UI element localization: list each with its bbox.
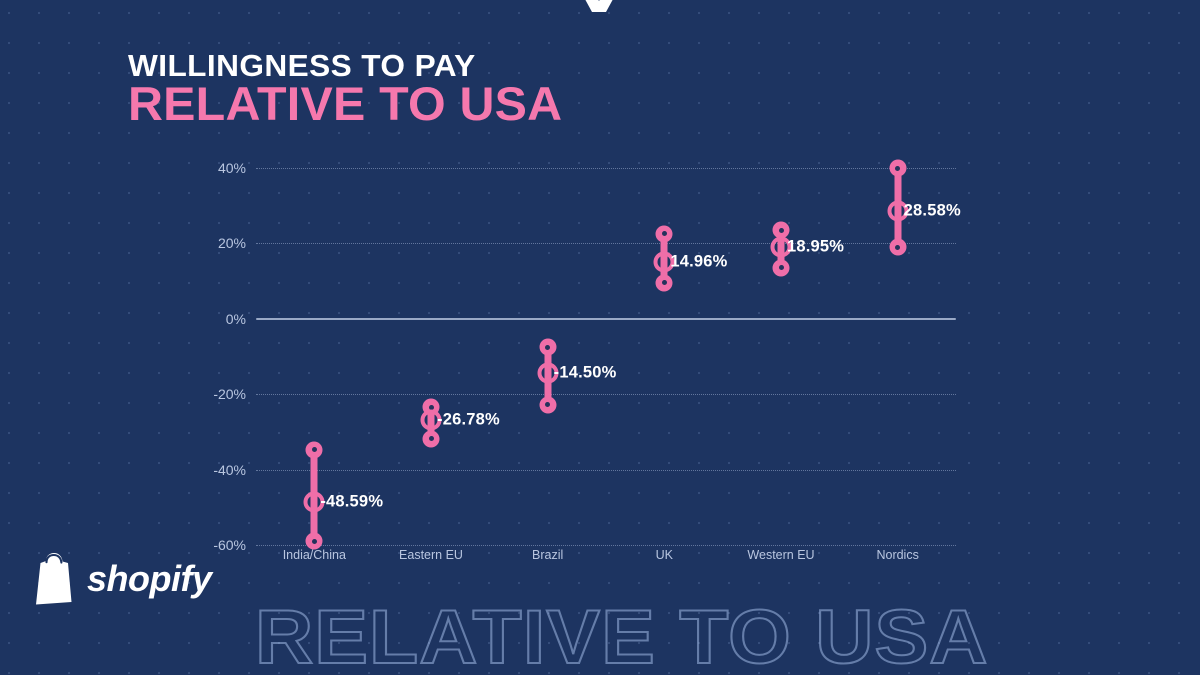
range-marker[interactable]: -48.59% bbox=[302, 0, 326, 675]
shopify-logo: shopify bbox=[30, 552, 212, 606]
zero-line bbox=[256, 318, 956, 320]
data-value-label: 18.95% bbox=[787, 238, 844, 257]
range-high-dot bbox=[656, 225, 673, 242]
y-axis-tick-label: -20% bbox=[190, 386, 246, 402]
x-axis-tick-label: India/China bbox=[283, 548, 346, 562]
data-value-label: 14.96% bbox=[670, 253, 727, 272]
range-marker[interactable]: -14.50% bbox=[536, 0, 560, 675]
range-low-dot bbox=[656, 274, 673, 291]
y-axis-tick-label: 40% bbox=[190, 160, 246, 176]
range-high-dot bbox=[889, 160, 906, 177]
range-marker[interactable]: 14.96% bbox=[652, 0, 676, 675]
y-axis-tick-label: -60% bbox=[190, 537, 246, 553]
y-axis-tick-label: 0% bbox=[190, 311, 246, 327]
y-axis-tick-label: 20% bbox=[190, 235, 246, 251]
x-axis-tick-label: Eastern EU bbox=[399, 548, 463, 562]
range-low-dot bbox=[539, 396, 556, 413]
data-value-label: 28.58% bbox=[904, 202, 961, 221]
range-marker[interactable]: -26.78% bbox=[419, 0, 443, 675]
gridline bbox=[256, 243, 956, 244]
data-value-label: -14.50% bbox=[554, 364, 617, 383]
data-value-label: -26.78% bbox=[437, 410, 500, 429]
y-axis-tick-label: -40% bbox=[190, 462, 246, 478]
x-axis-tick-label: Western EU bbox=[747, 548, 814, 562]
gridline bbox=[256, 394, 956, 395]
gridline bbox=[256, 470, 956, 471]
range-high-dot bbox=[306, 441, 323, 458]
range-low-dot bbox=[773, 259, 790, 276]
range-high-dot bbox=[539, 339, 556, 356]
range-marker[interactable]: 18.95% bbox=[769, 0, 793, 675]
x-axis-tick-label: Nordics bbox=[876, 548, 918, 562]
range-low-dot bbox=[889, 239, 906, 256]
x-axis-tick-label: Brazil bbox=[532, 548, 563, 562]
data-value-label: -48.59% bbox=[320, 492, 383, 511]
range-low-dot bbox=[423, 430, 440, 447]
shopping-bag-icon bbox=[30, 552, 78, 606]
gridline bbox=[256, 168, 956, 169]
gridline bbox=[256, 545, 956, 546]
x-axis-tick-label: UK bbox=[656, 548, 673, 562]
range-marker[interactable]: 28.58% bbox=[886, 0, 910, 675]
shopify-wordmark: shopify bbox=[87, 558, 212, 600]
